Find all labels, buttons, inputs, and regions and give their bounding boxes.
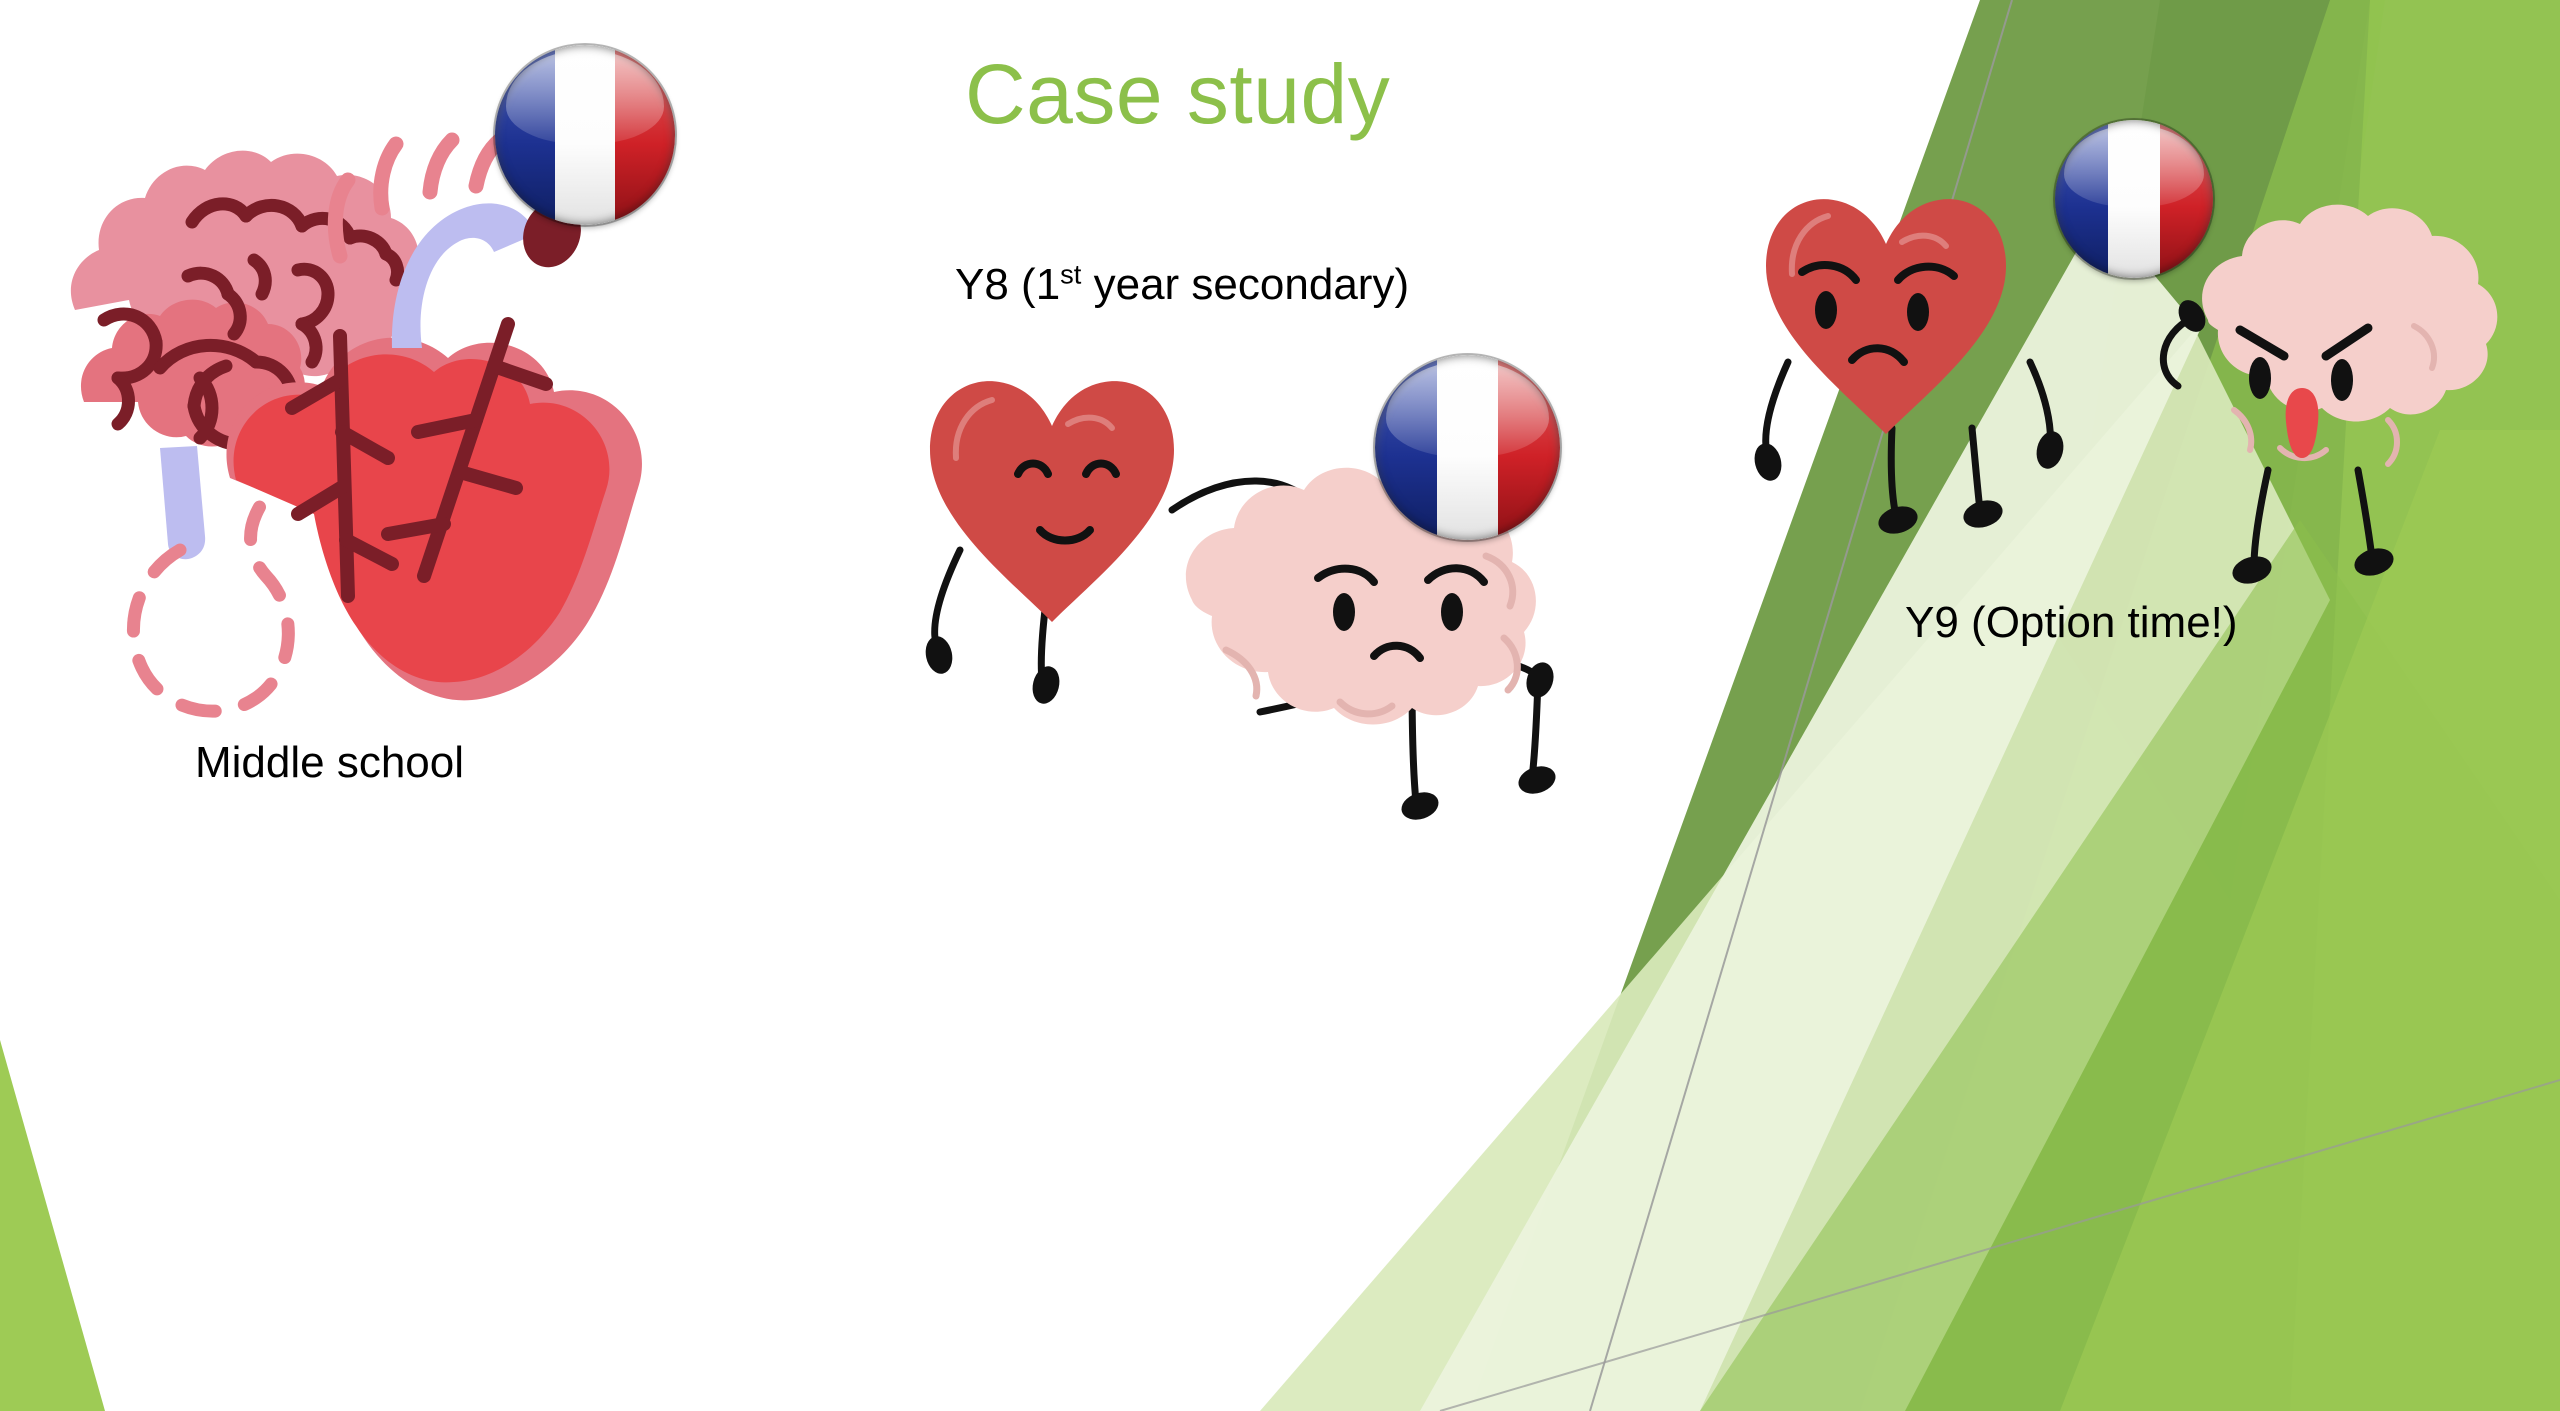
- flag-band-blue: [2055, 120, 2108, 278]
- flag-france-icon: [495, 45, 675, 225]
- page-title: Case study: [965, 52, 1390, 136]
- flag-band-red: [1498, 355, 1560, 540]
- caption-middle-school: Middle school: [195, 740, 464, 786]
- caption-y8-suffix: year secondary): [1081, 260, 1409, 309]
- flag-france-icon: [1375, 355, 1560, 540]
- flag-france-icon: [2055, 120, 2213, 278]
- flag-band-white: [2108, 120, 2161, 278]
- flag-band-blue: [1375, 355, 1437, 540]
- slide-canvas: Case study: [0, 0, 2560, 1411]
- flag-band-red: [615, 45, 675, 225]
- caption-y8: Y8 (1st year secondary): [955, 262, 1409, 308]
- flag-bands: [2055, 120, 2213, 278]
- flag-band-white: [1437, 355, 1499, 540]
- caption-y8-ordinal-suffix: st: [1060, 258, 1081, 289]
- flag-bands: [1375, 355, 1560, 540]
- caption-y9: Y9 (Option time!): [1905, 600, 2238, 646]
- flag-band-blue: [495, 45, 555, 225]
- flag-band-red: [2160, 120, 2213, 278]
- flag-band-white: [555, 45, 615, 225]
- flag-bands: [495, 45, 675, 225]
- caption-y8-prefix: Y8 (1: [955, 260, 1060, 309]
